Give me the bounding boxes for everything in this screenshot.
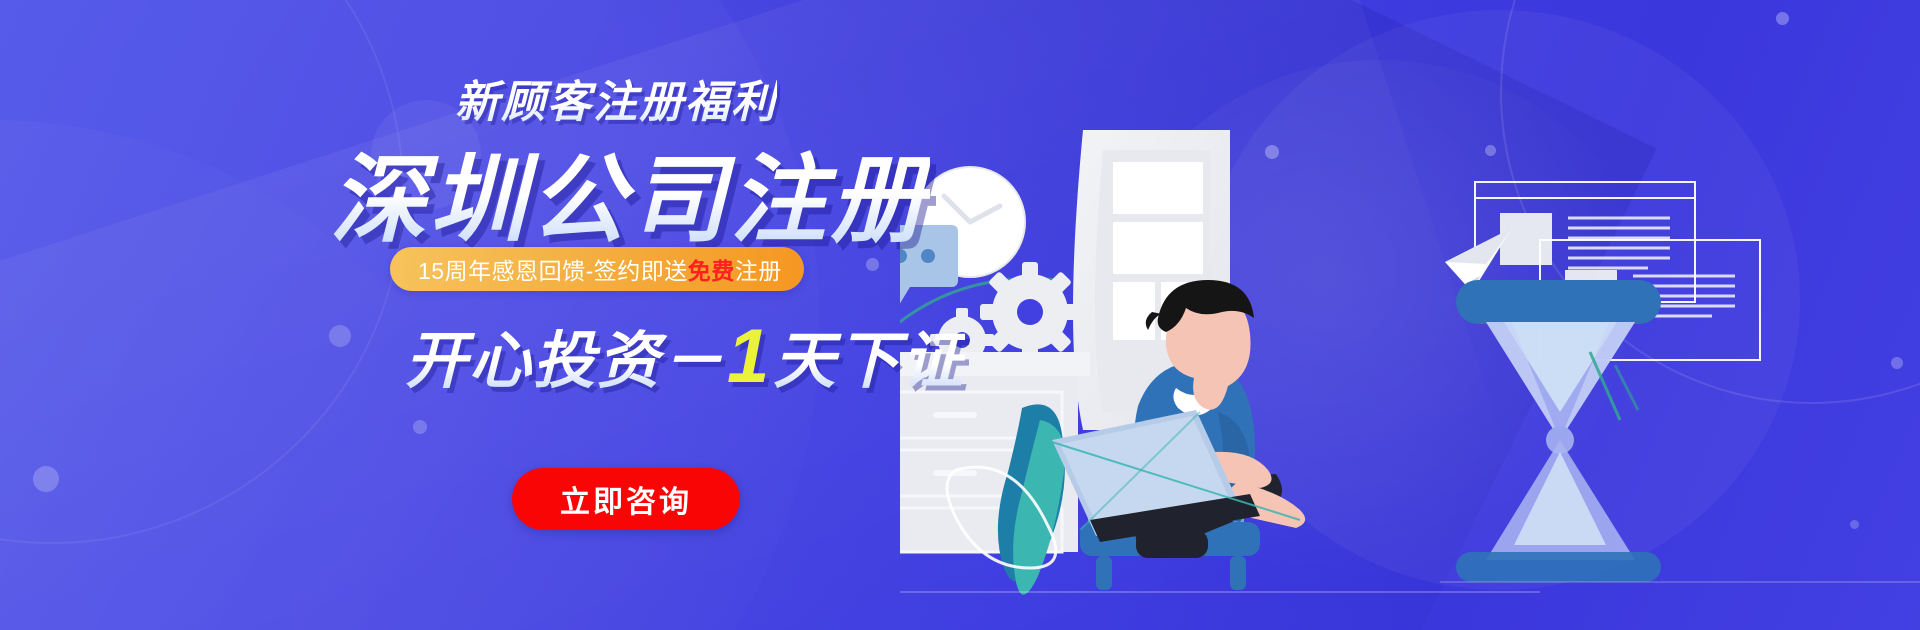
- promo-banner: 新顾客注册福利 深圳公司注册 15周年感恩回馈-签约即送免费注册 开心投资－1天…: [0, 0, 1920, 630]
- tagline-number: 1: [725, 314, 773, 399]
- tagline: 开心投资－1天下证: [405, 310, 965, 400]
- illustration: [900, 0, 1920, 630]
- kicker-text: 新顾客注册福利: [455, 66, 777, 130]
- promo-prefix: 15周年感恩回馈-签约即送: [418, 252, 688, 286]
- tagline-suffix: 天下证: [773, 327, 965, 396]
- consult-now-button[interactable]: 立即咨询: [512, 468, 740, 530]
- page-title: 深圳公司注册: [330, 122, 930, 261]
- copy-block: 新顾客注册福利 深圳公司注册 15周年感恩回馈-签约即送免费注册 开心投资－1天…: [0, 0, 960, 630]
- promo-highlight: 免费: [688, 252, 735, 286]
- gear-icon: [980, 262, 1080, 362]
- promo-suffix: 注册: [735, 252, 782, 286]
- tagline-prefix: 开心投资－: [405, 327, 725, 396]
- promo-badge: 15周年感恩回馈-签约即送免费注册: [390, 247, 804, 291]
- consult-now-label: 立即咨询: [560, 477, 692, 521]
